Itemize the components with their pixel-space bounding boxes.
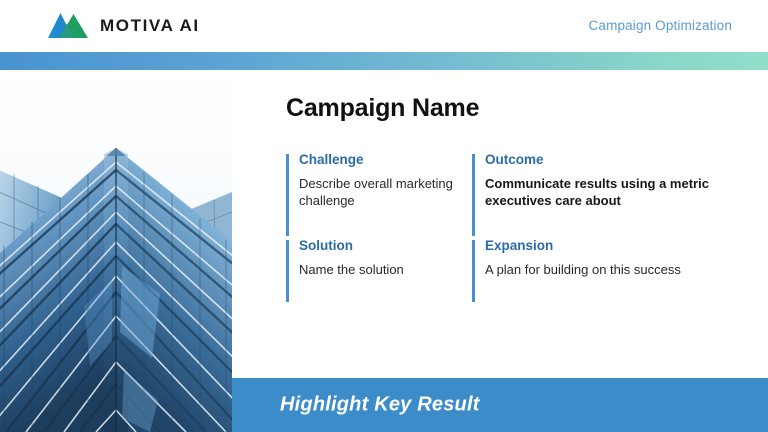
brand-name: MOTIVA AI <box>100 17 200 34</box>
detail-block-challenge[interactable]: Challenge Describe overall marketing cha… <box>286 152 472 238</box>
key-result-banner: Highlight Key Result <box>232 378 768 432</box>
detail-block-heading: Challenge <box>299 152 472 168</box>
slide-canvas: MOTIVA AI Campaign Optimization <box>0 0 768 432</box>
detail-block-body: Describe overall marketing challenge <box>299 175 472 210</box>
detail-block-heading: Outcome <box>485 152 756 168</box>
detail-block-solution[interactable]: Solution Name the solution <box>286 238 472 304</box>
detail-grid: Challenge Describe overall marketing cha… <box>286 152 756 304</box>
detail-block-expansion[interactable]: Expansion A plan for building on this su… <box>472 238 756 304</box>
page-title: Campaign Name <box>286 94 479 123</box>
detail-block-body: A plan for building on this success <box>485 261 756 279</box>
section-label: Campaign Optimization <box>589 18 732 33</box>
brand-logo[interactable]: MOTIVA AI <box>48 11 200 39</box>
detail-block-body: Name the solution <box>299 261 472 279</box>
detail-block-body: Communicate results using a metric execu… <box>485 175 756 210</box>
building-photo <box>0 70 232 432</box>
key-result-text: Highlight Key Result <box>280 394 480 417</box>
detail-block-outcome[interactable]: Outcome Communicate results using a metr… <box>472 152 756 238</box>
slide-content: Campaign Name Challenge Describe overall… <box>232 70 768 374</box>
detail-row-bottom: Solution Name the solution Expansion A p… <box>286 238 756 304</box>
slide-header: MOTIVA AI Campaign Optimization <box>0 0 768 52</box>
gradient-divider <box>0 52 768 70</box>
detail-row-top: Challenge Describe overall marketing cha… <box>286 152 756 238</box>
detail-block-heading: Expansion <box>485 238 756 254</box>
detail-block-heading: Solution <box>299 238 472 254</box>
motiva-mountains-icon <box>48 11 88 39</box>
